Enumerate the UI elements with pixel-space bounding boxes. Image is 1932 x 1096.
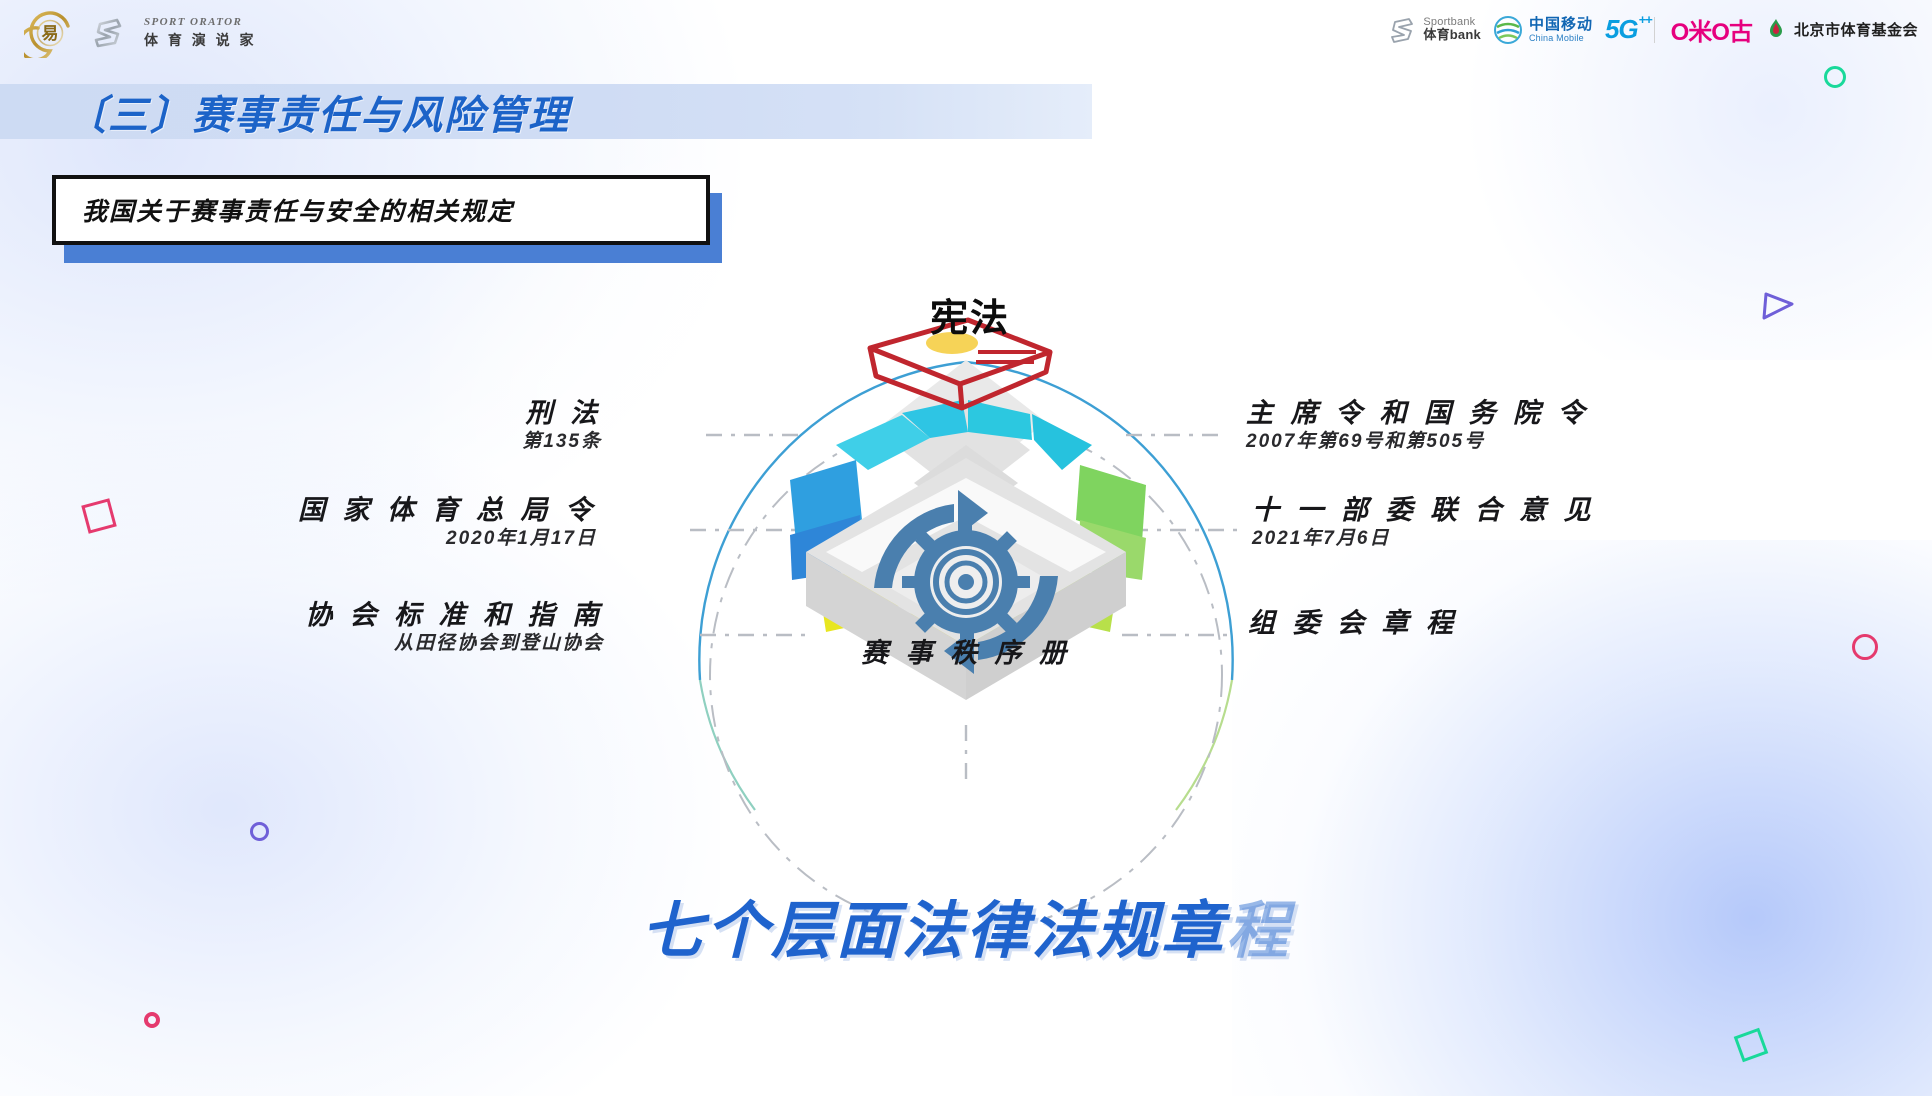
ring-pink-bottom-left [144, 1012, 160, 1028]
brand-left: 易 SPORT ORATOR 体 育 演 说 家 [24, 6, 257, 58]
china-mobile-line1: 中国移动 [1529, 16, 1593, 33]
bjsf-label: 北京市体育基金会 [1794, 19, 1918, 40]
partner-logo-strip: Sportbank 体育bank 中国移动 China Mobile 5G++ … [1391, 12, 1918, 47]
node-label-eleven-ministries: 十 一 部 委 联 合 意 见 2021年7月6日 [1252, 495, 1596, 551]
sportbank-icon [1391, 14, 1417, 46]
node-label-presidential-order: 主 席 令 和 国 务 院 令 2007年第69号和第505号 [1246, 398, 1590, 454]
migu-icon: O米O古 [1671, 12, 1752, 47]
subtitle-box-wrapper: 我国关于赛事责任与安全的相关规定 [52, 175, 710, 245]
sportbank-line2: 体育bank [1423, 28, 1481, 43]
node-label-event-program: 赛 事 秩 序 册 [790, 638, 1142, 671]
node-label-oc-charter: 组 委 会 章 程 [1248, 608, 1458, 641]
node-main: 国 家 体 育 总 局 令 [298, 495, 597, 525]
headline-main: 七个层面法律法规章 [641, 897, 1226, 966]
partner-logo-sportbank: Sportbank 体育bank [1391, 14, 1481, 46]
slide-header: 易 SPORT ORATOR 体 育 演 说 家 Sp [0, 0, 1932, 64]
brand-chinese: 体 育 演 说 家 [144, 32, 257, 48]
node-main: 刑 法 [522, 398, 602, 428]
arc-left-green [700, 680, 755, 810]
logo-divider [1654, 17, 1655, 43]
node-label-gasa-order: 国 家 体 育 总 局 令 2020年1月17日 [298, 495, 597, 551]
node-sub: 从田径协会到登山协会 [305, 633, 604, 656]
brand-wordmark: SPORT ORATOR 体 育 演 说 家 [144, 16, 257, 48]
partner-logo-bjsf: 北京市体育基金会 [1764, 17, 1918, 43]
node-sub: 2020年1月17日 [298, 528, 597, 551]
bottom-headline: 七个层面法律法规章程 [0, 880, 1932, 970]
node-main: 协 会 标 准 和 指 南 [305, 600, 604, 630]
china-mobile-line2: China Mobile [1529, 33, 1593, 43]
subtitle-text: 我国关于赛事责任与安全的相关规定 [56, 192, 514, 228]
svg-text:易: 易 [42, 24, 59, 43]
node-label-constitution: 宪法 [930, 287, 1010, 342]
headline-tail: 程 [1226, 897, 1291, 966]
seven-layer-diagram: 刑 法 第135条 主 席 令 和 国 务 院 令 2007年第69号和第505… [0, 280, 1932, 920]
seal-stamp-icon: 易 [24, 6, 76, 58]
node-sub: 2007年第69号和第505号 [1246, 431, 1590, 454]
node-sub: 第135条 [522, 431, 602, 454]
diagram-canvas [0, 280, 1932, 920]
5g-label: 5G [1605, 14, 1638, 44]
page-title: 〔三〕赛事责任与风险管理 [66, 83, 570, 141]
node-main: 十 一 部 委 联 合 意 见 [1252, 495, 1596, 525]
beijing-sports-foundation-icon [1764, 17, 1788, 43]
node-main: 主 席 令 和 国 务 院 令 [1246, 398, 1590, 428]
sport-orator-mark-icon [90, 12, 130, 52]
brand-english: SPORT ORATOR [144, 16, 257, 29]
node-main: 组 委 会 章 程 [1248, 608, 1458, 638]
5g-icon: 5G++ [1605, 14, 1638, 45]
partner-logo-china-mobile: 中国移动 China Mobile [1493, 15, 1593, 45]
node-label-association-std: 协 会 标 准 和 指 南 从田径协会到登山协会 [305, 600, 604, 656]
subtitle-box: 我国关于赛事责任与安全的相关规定 [52, 175, 710, 245]
arc-right-green [1176, 680, 1232, 810]
square-green-bottom-right [1730, 1024, 1772, 1071]
ring-green-top-right [1824, 66, 1846, 88]
china-mobile-icon [1493, 15, 1523, 45]
node-sub: 2021年7月6日 [1252, 528, 1596, 551]
node-main: 赛 事 秩 序 册 [790, 638, 1142, 668]
node-label-criminal-law: 刑 法 第135条 [522, 398, 602, 454]
5g-superscript: ++ [1638, 12, 1651, 27]
